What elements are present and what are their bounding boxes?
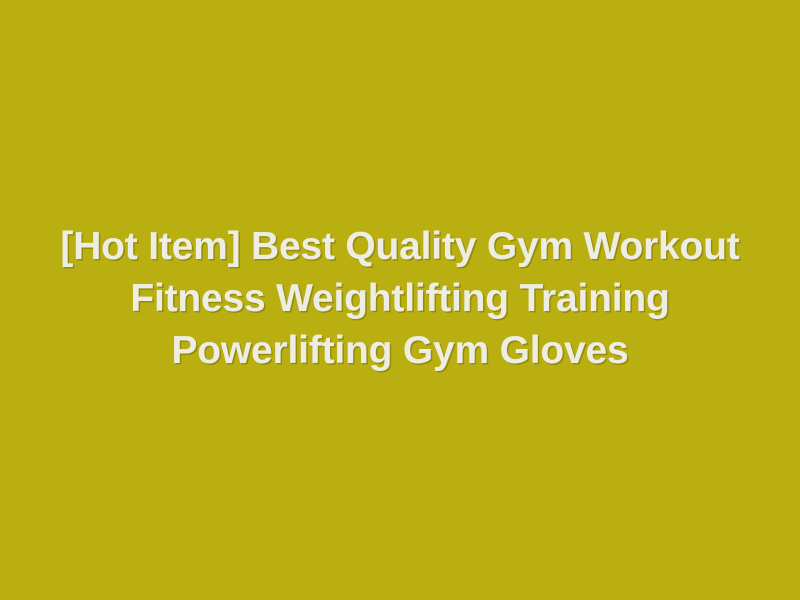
product-title-line-3: Powerlifting Gym Gloves <box>30 325 770 377</box>
product-title-card: [Hot Item] Best Quality Gym Workout Fitn… <box>0 0 800 600</box>
product-title-line-2: Fitness Weightlifting Training <box>30 273 770 325</box>
product-title-line-1: [Hot Item] Best Quality Gym Workout <box>30 221 770 273</box>
product-title-text-block: [Hot Item] Best Quality Gym Workout Fitn… <box>30 221 770 377</box>
